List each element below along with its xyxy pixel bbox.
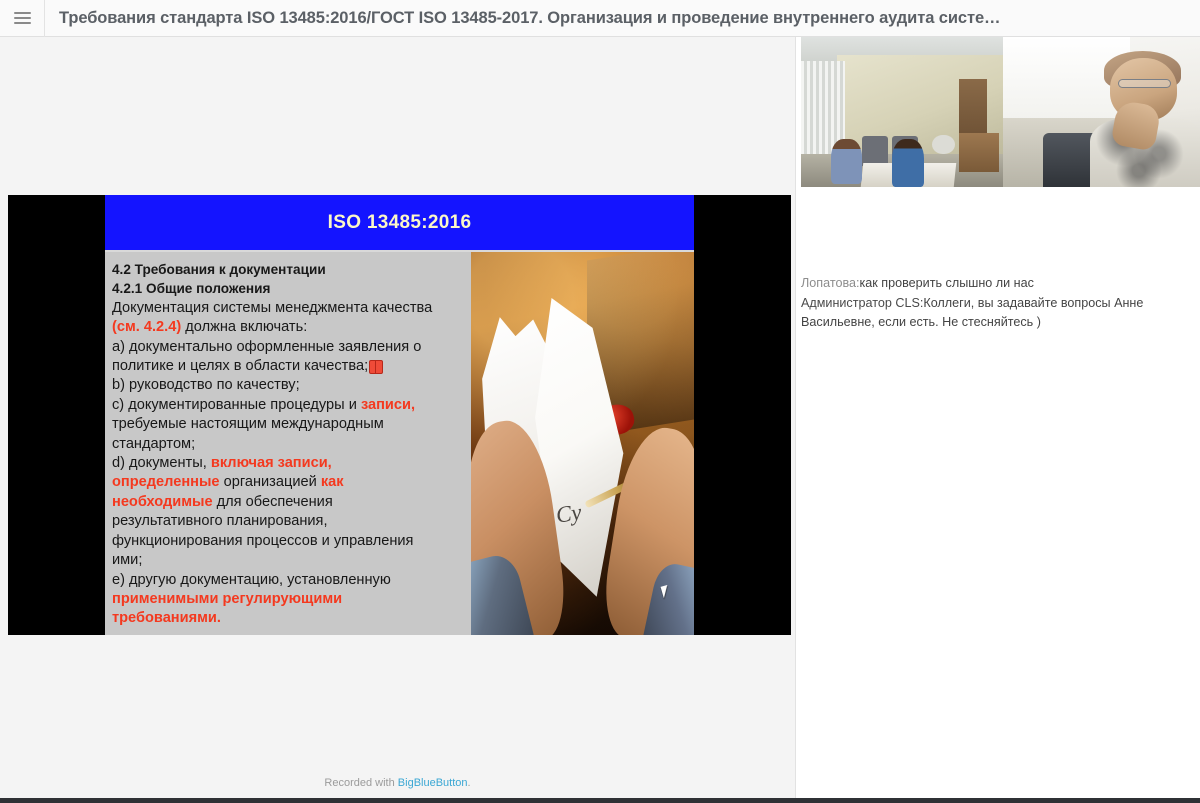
bottom-strip xyxy=(0,798,1200,803)
slide-line-d1-text: d) документы, xyxy=(112,455,211,471)
slide-line-e2: применимыми регулирующими xyxy=(112,590,465,609)
slide-line-a2-text: политике и целях в области качества; xyxy=(112,358,368,374)
slide-line-p1: Документация системы менеджмента качеств… xyxy=(112,299,465,318)
room-chair xyxy=(862,136,888,166)
room-participant xyxy=(892,139,924,187)
room-fan xyxy=(932,135,954,155)
photo-signature: Cy xyxy=(554,499,583,528)
slide-line-c1-text: c) документированные процедуры и xyxy=(112,397,361,413)
slide-line-a1: а) документально оформленные заявления о xyxy=(112,338,465,357)
slide-line-d2-highlight2: как xyxy=(321,474,344,490)
slide-line-d3-rest: для обеспечения xyxy=(213,494,333,510)
slide-line-p2-rest: должна включать: xyxy=(181,319,307,335)
slide-line-d4: результативного планирования, xyxy=(112,512,465,531)
slide-canvas[interactable]: ISO 13485:2016 4.2 Требования к документ… xyxy=(8,195,791,635)
slide-heading-2: 4.2.1 Общие положения xyxy=(112,279,465,298)
room-cabinet xyxy=(959,133,999,172)
chat-author: Лопатова: xyxy=(801,276,860,290)
hamburger-bar xyxy=(14,17,31,19)
slide-ref-424: (см. 4.2.4) xyxy=(112,319,181,335)
presenter-glasses xyxy=(1118,79,1171,88)
open-book-icon xyxy=(369,360,383,372)
hamburger-bar xyxy=(14,12,31,14)
slide-line-d2-highlight: определенные xyxy=(112,474,220,490)
chat-text: как проверить слышно ли нас xyxy=(860,276,1034,290)
slide-line-d2: определенные организацией как xyxy=(112,473,465,492)
slide-line-c3: стандартом; xyxy=(112,435,465,454)
chat-author: Администратор CLS: xyxy=(801,296,923,310)
hamburger-bar xyxy=(14,22,31,24)
slide-line-c1-highlight: записи, xyxy=(361,397,415,413)
topbar: Требования стандарта ISO 13485:2016/ГОСТ… xyxy=(0,0,1200,37)
page-title: Требования стандарта ISO 13485:2016/ГОСТ… xyxy=(45,9,1200,28)
webcam-meeting-room[interactable] xyxy=(801,37,1003,187)
slide-heading-1: 4.2 Требования к документации xyxy=(112,260,465,279)
slide-photo: Cy xyxy=(471,252,694,635)
slide-line-d2-mid: организацией xyxy=(220,474,321,490)
slide-line-e1: е) другую документацию, установленную xyxy=(112,571,465,590)
sidebar-pane: Лопатова:как проверить слышно ли нас Адм… xyxy=(796,37,1200,798)
slide-line-a2: политике и целях в области качества; xyxy=(112,357,465,376)
chat-message: Администратор CLS:Коллеги, вы задавайте … xyxy=(801,294,1183,332)
webcam-strip[interactable] xyxy=(801,37,1200,187)
hamburger-menu-icon[interactable] xyxy=(0,0,44,37)
slide-line-d3-highlight: необходимые xyxy=(112,494,213,510)
room-participant xyxy=(831,139,861,184)
slide-line-d3: необходимые для обеспечения xyxy=(112,493,465,512)
slide-line-c1: c) документированные процедуры и записи, xyxy=(112,396,465,415)
slide-line-e3: требованиями. xyxy=(112,609,465,628)
webcam-presenter[interactable] xyxy=(1003,37,1200,187)
credit-suffix: . xyxy=(468,777,471,789)
slide-line-b: b) руководство по качеству; xyxy=(112,376,465,395)
slide-line-p2: (см. 4.2.4) должна включать: xyxy=(112,318,465,337)
slide-text-column: 4.2 Требования к документации 4.2.1 Общи… xyxy=(105,252,471,635)
chat-log: Лопатова:как проверить слышно ли нас Адм… xyxy=(801,274,1183,333)
slide-line-c2: требуемые настоящим международным xyxy=(112,415,465,434)
slide-header: ISO 13485:2016 xyxy=(105,195,694,252)
slide-header-title: ISO 13485:2016 xyxy=(328,212,472,234)
presentation-pane: ISO 13485:2016 4.2 Требования к документ… xyxy=(0,37,795,798)
bigbluebutton-recording-player: Требования стандарта ISO 13485:2016/ГОСТ… xyxy=(0,0,1200,803)
slide-line-d1: d) документы, включая записи, xyxy=(112,454,465,473)
slide-body: 4.2 Требования к документации 4.2.1 Общи… xyxy=(105,252,694,635)
slide-line-d5: функционирования процессов и управления xyxy=(112,532,465,551)
content-area: ISO 13485:2016 4.2 Требования к документ… xyxy=(0,37,1200,798)
bigbluebutton-link[interactable]: BigBlueButton xyxy=(398,777,468,789)
chat-message: Лопатова:как проверить слышно ли нас xyxy=(801,274,1183,293)
slide: ISO 13485:2016 4.2 Требования к документ… xyxy=(105,195,694,635)
credit-prefix: Recorded with xyxy=(324,777,397,789)
slide-line-d6: ими; xyxy=(112,551,465,570)
slide-line-d1-highlight: включая записи, xyxy=(211,455,332,471)
recording-credit: Recorded with BigBlueButton. xyxy=(0,777,795,789)
